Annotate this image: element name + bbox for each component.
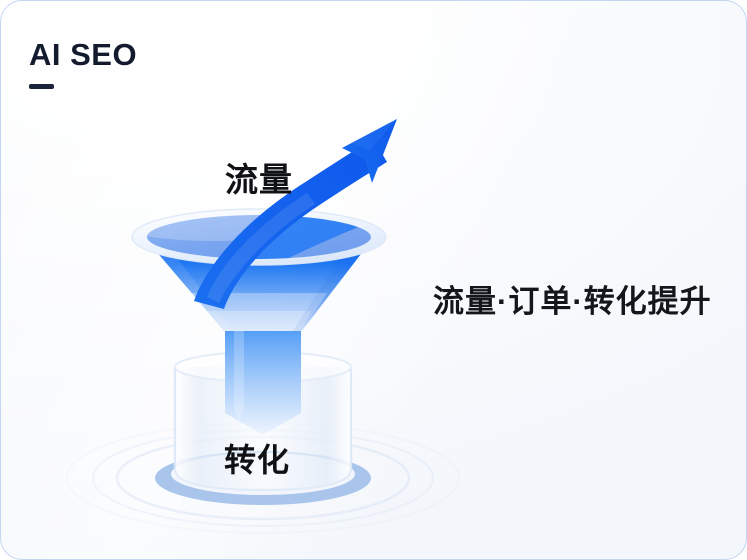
label-traffic: 流量 — [225, 153, 293, 201]
page-title: AI SEO — [29, 37, 137, 73]
funnel-stem — [225, 319, 301, 435]
title-underline-rule — [29, 84, 54, 89]
tagline-text: 流量·订单·转化提升 — [433, 276, 712, 321]
label-conversion: 转化 — [224, 435, 290, 481]
ai-seo-poster-card: 流量 转化 AI SEO 流量·订单·转化提升 — [0, 0, 747, 560]
